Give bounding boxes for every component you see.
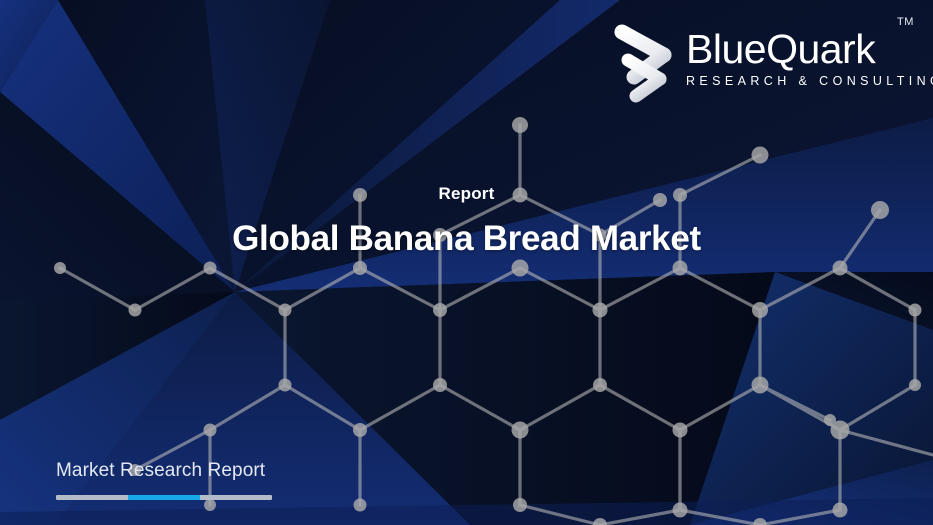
footer-label: Market Research Report	[56, 459, 376, 483]
page-title: Global Banana Bread Market	[0, 217, 933, 261]
footer-bar-segment-left	[56, 495, 128, 500]
footer-bar-segment-right	[200, 495, 272, 500]
wordmark-blue: Blue	[686, 26, 766, 72]
brand-tagline: RESEARCH & CONSULTING	[686, 73, 914, 89]
footer-bar-segment-accent	[128, 495, 200, 500]
hero-title-block: Report Global Banana Bread Market	[0, 183, 933, 261]
footer-accent-bar	[56, 495, 272, 500]
wordmark-line: BlueQuark	[686, 26, 914, 72]
wordmark-quark: Quark	[766, 26, 875, 72]
trademark-symbol: TM	[897, 16, 914, 28]
report-cover: BlueQuark RESEARCH & CONSULTING TM Repor…	[0, 0, 933, 525]
brand-logo: BlueQuark RESEARCH & CONSULTING TM	[614, 14, 914, 109]
report-kicker: Report	[0, 183, 933, 205]
bluequark-chevron-logo-icon	[614, 22, 680, 106]
footer-block: Market Research Report	[56, 459, 376, 500]
brand-wordmark: BlueQuark RESEARCH & CONSULTING	[686, 26, 914, 89]
